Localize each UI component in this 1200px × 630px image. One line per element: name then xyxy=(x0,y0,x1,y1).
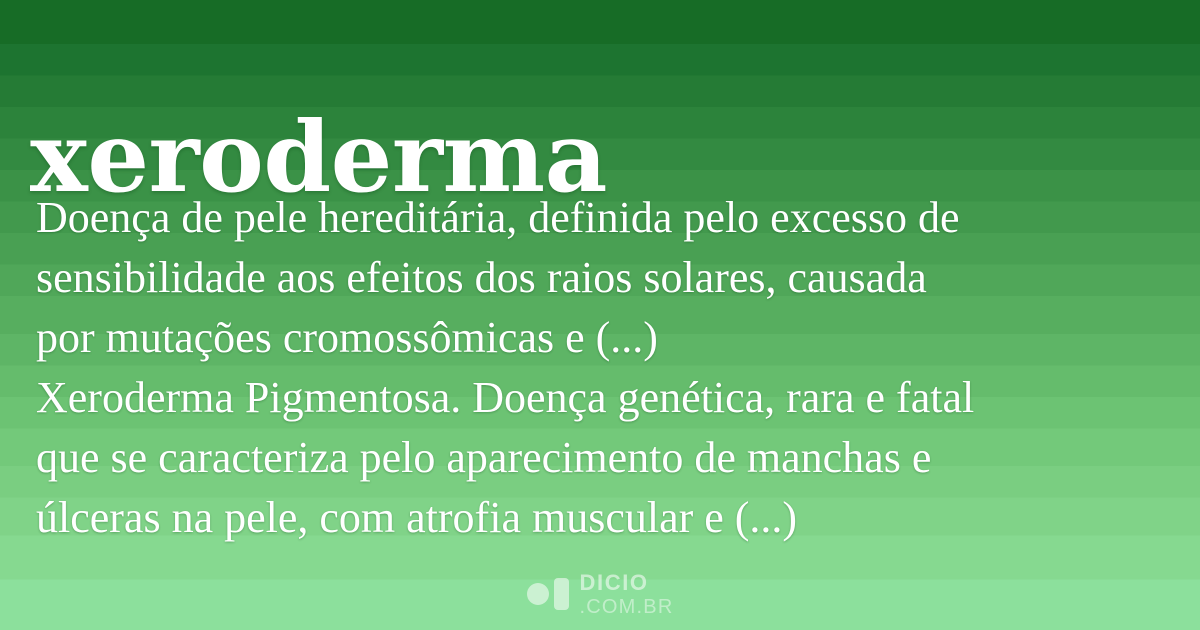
definition-line: que se caracteriza pelo aparecimento de … xyxy=(36,428,1172,488)
logo-mark xyxy=(527,578,569,610)
definition-line: Xeroderma Pigmentosa. Doença genética, r… xyxy=(36,368,1172,428)
definition-line: Doença de pele hereditária, definida pel… xyxy=(36,188,1172,248)
definition-list: Doença de pele hereditária, definida pel… xyxy=(36,188,1172,548)
word-definition-banner: xeroderma Doença de pele hereditária, de… xyxy=(0,0,1200,630)
logo-wordmark: DICIO .COM.BR xyxy=(580,572,674,617)
definition-line: úlceras na pele, com atrofia muscular e … xyxy=(36,488,1172,548)
dicio-logo: DICIO .COM.BR xyxy=(0,572,1200,616)
logo-name: DICIO xyxy=(580,572,674,594)
circle-mark-icon xyxy=(527,583,549,605)
definition-line: por mutações cromossômicas e (...) xyxy=(36,308,1172,368)
logo-tld: .COM.BR xyxy=(580,597,674,617)
bar-mark-icon xyxy=(554,578,569,610)
definition-line: sensibilidade aos efeitos dos raios sola… xyxy=(36,248,1172,308)
